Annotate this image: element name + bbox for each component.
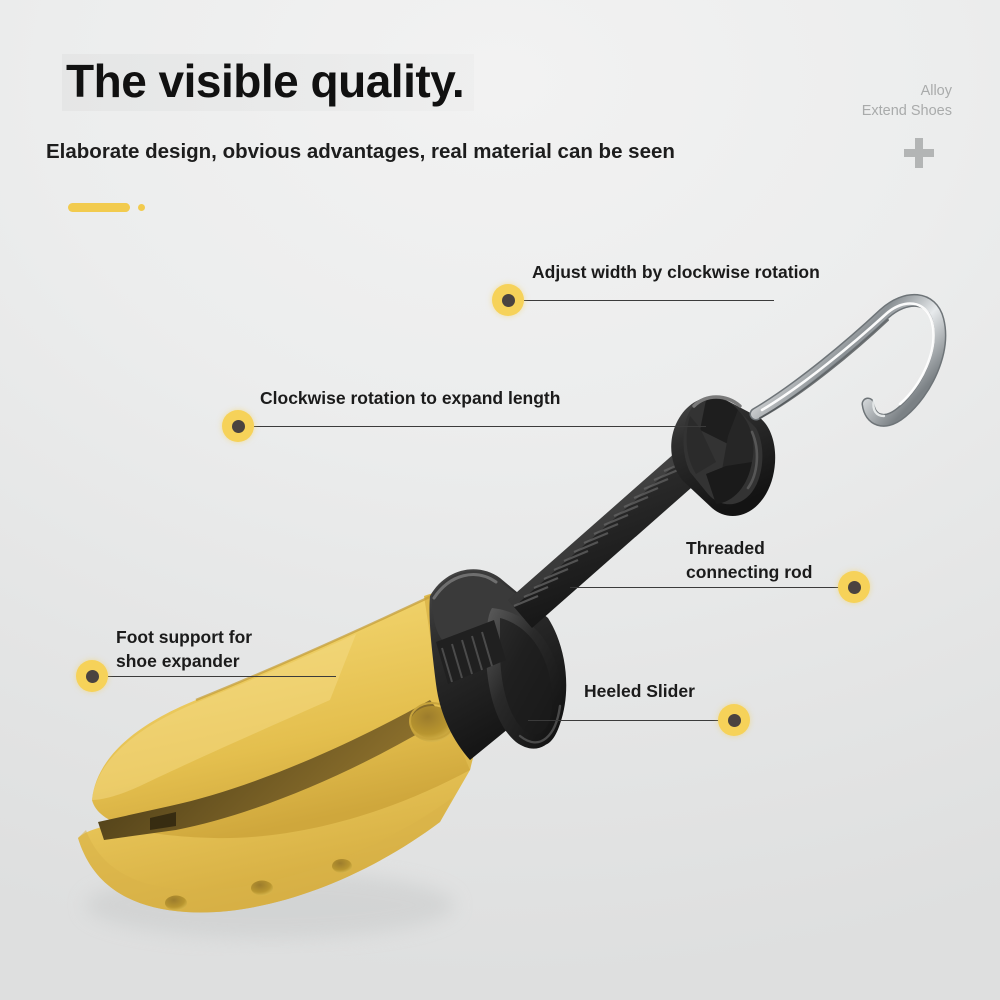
callout-line-adjust-width — [524, 300, 774, 301]
brand-line-1: Alloy — [862, 82, 952, 102]
callout-label-foot-support-line2: shoe expander — [116, 650, 252, 674]
brand-label: Alloy Extend Shoes — [862, 82, 952, 121]
page-subtitle: Elaborate design, obvious advantages, re… — [46, 140, 675, 164]
callout-label-foot-support: Foot support for shoe expander — [116, 626, 252, 673]
plus-icon — [902, 136, 936, 170]
callout-label-expand-length: Clockwise rotation to expand length — [260, 387, 560, 411]
callout-line-threaded-rod — [570, 587, 842, 588]
callout-label-foot-support-line1: Foot support for — [116, 626, 252, 650]
callout-dot-heeled-slider[interactable] — [718, 704, 750, 736]
accent-bar — [68, 203, 130, 212]
callout-line-heeled-slider — [528, 720, 732, 721]
brand-line-2: Extend Shoes — [862, 102, 952, 122]
callout-label-threaded-rod-line2: connecting rod — [686, 561, 812, 585]
callout-label-heeled-slider: Heeled Slider — [584, 680, 695, 704]
chrome-j-hook — [756, 300, 940, 420]
callout-label-adjust-width: Adjust width by clockwise rotation — [532, 261, 820, 285]
infographic-canvas: The visible quality. Elaborate design, o… — [0, 0, 1000, 1000]
callout-dot-threaded-rod[interactable] — [838, 571, 870, 603]
callout-dot-foot-support[interactable] — [76, 660, 108, 692]
callout-label-threaded-rod: Threaded connecting rod — [686, 537, 812, 584]
page-title: The visible quality. — [62, 54, 474, 111]
callout-dot-expand-length[interactable] — [222, 410, 254, 442]
accent-dot — [138, 204, 145, 211]
callout-line-foot-support — [108, 676, 336, 677]
callout-label-threaded-rod-line1: Threaded — [686, 537, 812, 561]
callout-dot-adjust-width[interactable] — [492, 284, 524, 316]
callout-line-expand-length — [254, 426, 706, 427]
